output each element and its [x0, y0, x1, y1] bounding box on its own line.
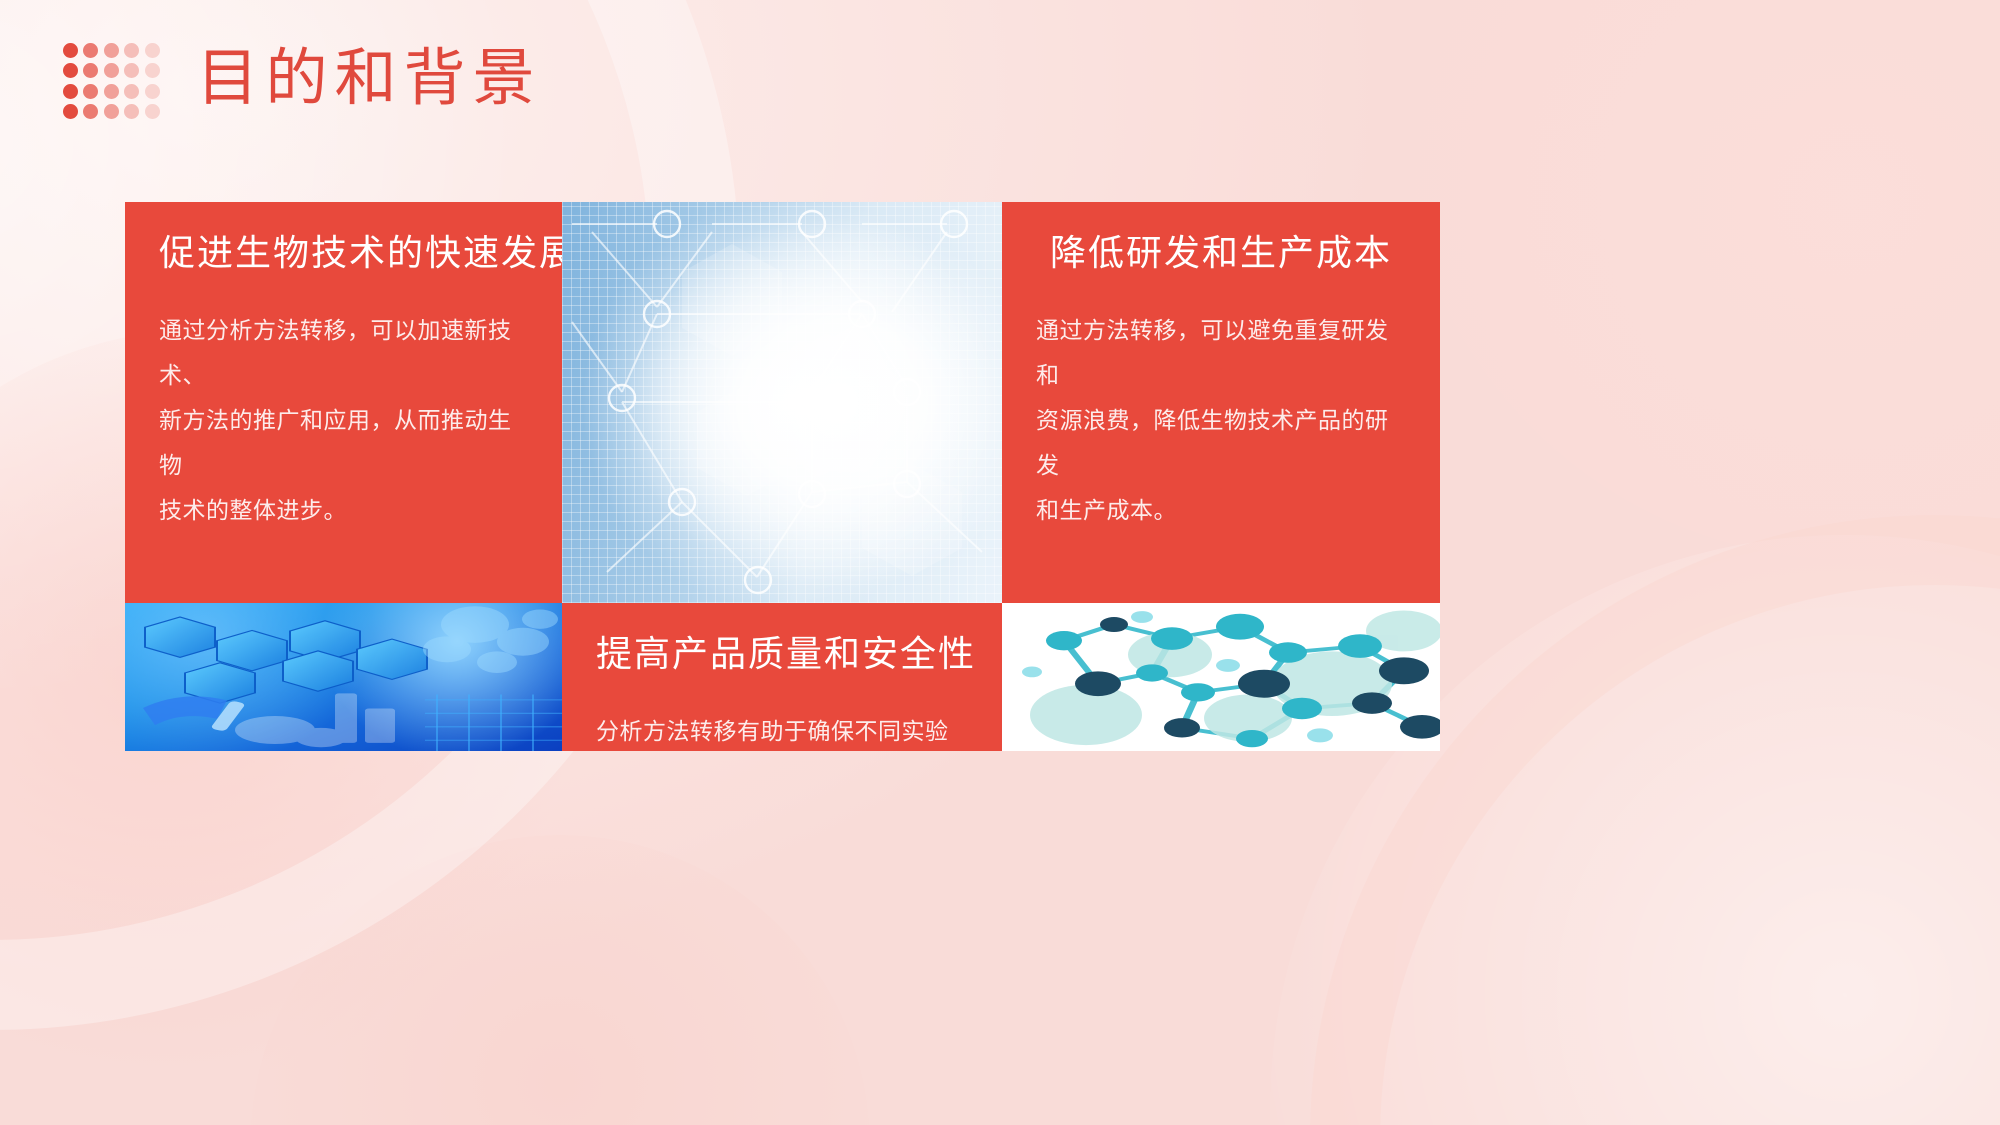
card-body-line: 通过方法转移，可以避免重复研发和 [1036, 309, 1406, 399]
teal-molecule-image [1002, 603, 1440, 751]
card-promote-biotech: 促进生物技术的快速发展 通过分析方法转移，可以加速新技术、 新方法的推广和应用，… [125, 202, 562, 603]
card-body-line: 新方法的推广和应用，从而推动生物 [159, 399, 528, 489]
card-body-line: 资源浪费，降低生物技术产品的研发 [1036, 399, 1406, 489]
card-body: 分析方法转移有助于确保不同实验室 或生产线之间产品质量的稳定性和一 致性，提高产… [596, 710, 968, 751]
card-title: 促进生物技术的快速发展 [159, 232, 528, 275]
card-body-line: 分析方法转移有助于确保不同实验室 [596, 710, 968, 751]
content-card-grid: 促进生物技术的快速发展 通过分析方法转移，可以加速新技术、 新方法的推广和应用，… [125, 202, 1440, 753]
card-body-line: 通过分析方法转移，可以加速新技术、 [159, 309, 528, 399]
lab-graphic [125, 603, 562, 751]
card-body-line: 和生产成本。 [1036, 489, 1406, 534]
slide-canvas: 目的和背景 促进生物技术的快速发展 通过分析方法转移，可以加速新技术、 新方法的… [0, 0, 2000, 1125]
card-reduce-cost: 降低研发和生产成本 通过方法转移，可以避免重复研发和 资源浪费，降低生物技术产品… [1002, 202, 1440, 603]
laboratory-hexagon-image [125, 603, 562, 751]
molecule-graphic [1002, 603, 1440, 751]
card-body: 通过分析方法转移，可以加速新技术、 新方法的推广和应用，从而推动生物 技术的整体… [159, 309, 528, 533]
slide-header: 目的和背景 [60, 36, 542, 122]
card-title: 提高产品质量和安全性 [596, 633, 968, 676]
dot-grid-logo-icon [60, 40, 163, 122]
page-title: 目的和背景 [197, 48, 542, 110]
light-glow [581, 203, 1001, 603]
card-body-line: 技术的整体进步。 [159, 489, 528, 534]
card-improve-quality: 提高产品质量和安全性 分析方法转移有助于确保不同实验室 或生产线之间产品质量的稳… [562, 603, 1002, 751]
molecular-network-image [562, 202, 1002, 603]
card-body: 通过方法转移，可以避免重复研发和 资源浪费，降低生物技术产品的研发 和生产成本。 [1036, 309, 1406, 533]
background-blob [1400, 0, 2000, 560]
card-title: 降低研发和生产成本 [1036, 232, 1406, 275]
